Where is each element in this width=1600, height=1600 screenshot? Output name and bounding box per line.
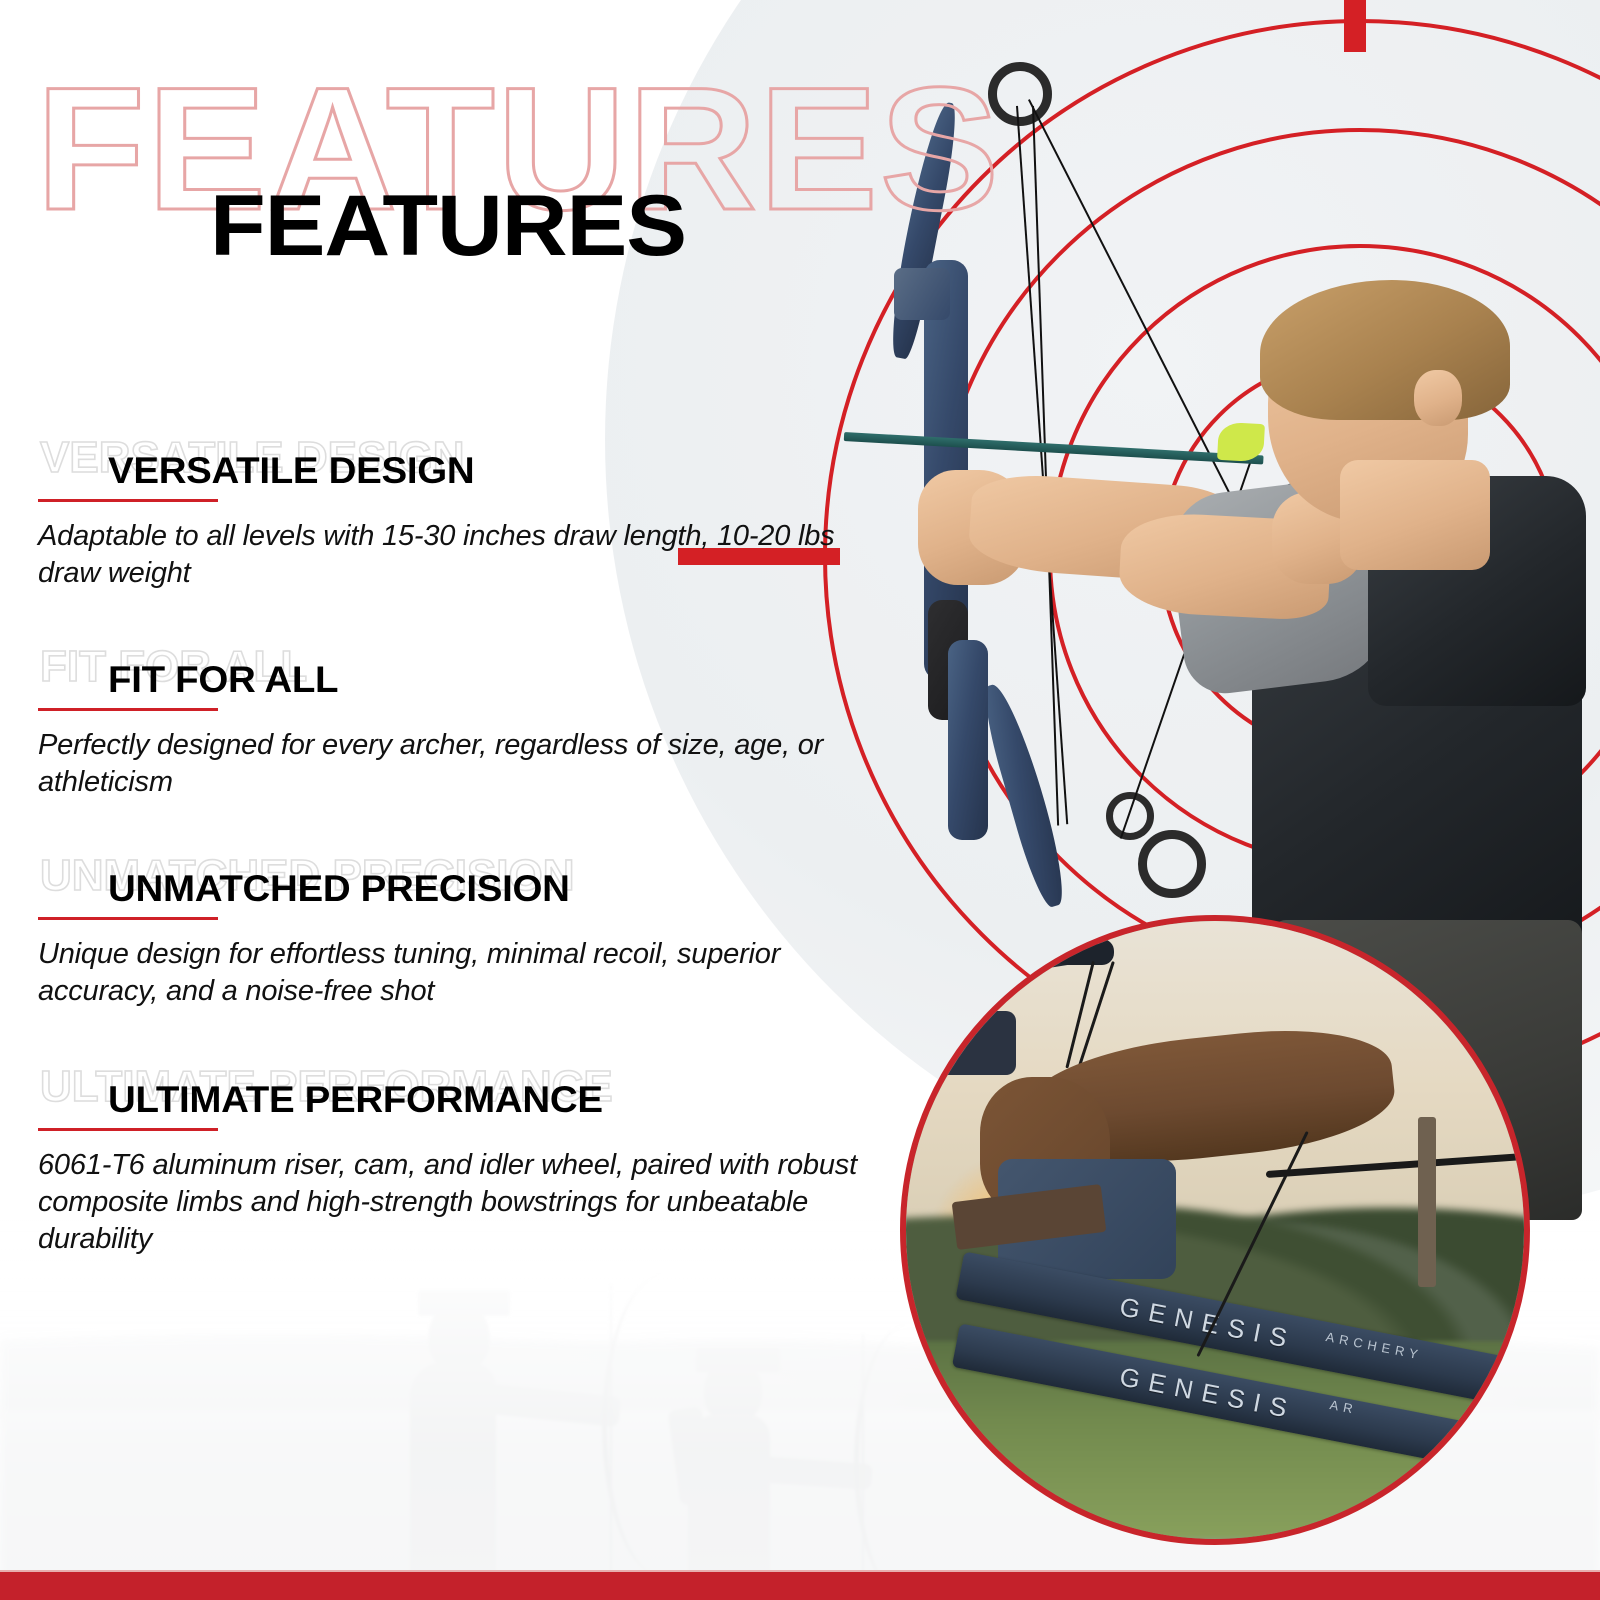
page-headline: FEATURES FEATURES [0, 0, 1200, 300]
bow-cam-wheel-bottom [1138, 830, 1206, 898]
boy-hair [1260, 280, 1510, 420]
bow-cable-2 [1032, 106, 1059, 826]
target-ring-3 [1048, 244, 1600, 868]
boy-ear [1414, 370, 1462, 426]
feature-poster: GENESIS ARCHERY GENESIS AR FEATURES FEAT… [0, 0, 1600, 1600]
feature-item: FIT FOR ALL FIT FOR ALL Perfectly design… [38, 645, 918, 823]
inset-bow-cam [1054, 939, 1114, 965]
feature-underline [38, 499, 218, 502]
bow-sight-bracket [894, 268, 950, 320]
target-ring-inner [1159, 355, 1561, 757]
bow-cable-wheel [1106, 792, 1154, 840]
page-title: FEATURES [210, 183, 686, 269]
headline-outline-text: FEATURES [36, 62, 1001, 237]
feature-title: FIT FOR ALL [108, 661, 1023, 698]
inset-bow-upper-grip [930, 1011, 1016, 1075]
bow-cable-1 [1016, 106, 1068, 824]
bow-string-main [1028, 99, 1248, 528]
feature-underline [38, 917, 218, 920]
bow-grip [928, 600, 968, 720]
feature-description: Unique design for effortless tuning, min… [38, 936, 888, 1010]
feature-description: Perfectly designed for every archer, reg… [38, 727, 888, 801]
boy-face [1268, 302, 1468, 522]
boy-sleeve-gray [1165, 474, 1398, 698]
feature-description: 6061-T6 aluminum riser, cam, and idler w… [38, 1147, 878, 1257]
target-ring-2 [932, 128, 1600, 984]
feature-description: Adaptable to all levels with 15-30 inche… [38, 518, 888, 592]
draw-arm [1118, 511, 1333, 622]
ghost-archer-right [640, 1292, 940, 1592]
feature-item: ULTIMATE PERFORMANCE ULTIMATE PERFORMANC… [38, 1065, 918, 1280]
arrow-vane [1217, 422, 1265, 462]
inset-photo-genesis-bow: GENESIS ARCHERY GENESIS AR [900, 915, 1530, 1545]
inset-post [1418, 1117, 1436, 1287]
boy-shoulder-panel [1368, 476, 1586, 706]
feature-underline [38, 1128, 218, 1131]
ghost-archer-left [370, 1262, 700, 1592]
feature-title: ULTIMATE PERFORMANCE [108, 1081, 1023, 1118]
draw-hand [1272, 492, 1364, 584]
feature-title: UNMATCHED PRECISION [108, 870, 1023, 907]
boy-neck [1340, 460, 1490, 570]
feature-item: VERSATILE DESIGN VERSATILE DESIGN Adapta… [38, 436, 918, 614]
boy-torso [1252, 480, 1582, 980]
bow-idler-wheel-top [988, 62, 1052, 126]
target-tick-top [1344, 0, 1366, 52]
feature-title: VERSATILE DESIGN [108, 452, 1023, 489]
feature-item: UNMATCHED PRECISION UNMATCHED PRECISION … [38, 854, 918, 1034]
feature-list: VERSATILE DESIGN VERSATILE DESIGN Adapta… [38, 436, 918, 1311]
feature-underline [38, 708, 218, 711]
bow-string-lower [1120, 460, 1252, 839]
bow-upper-limb [883, 100, 962, 361]
bottom-accent-bar [0, 1570, 1600, 1600]
